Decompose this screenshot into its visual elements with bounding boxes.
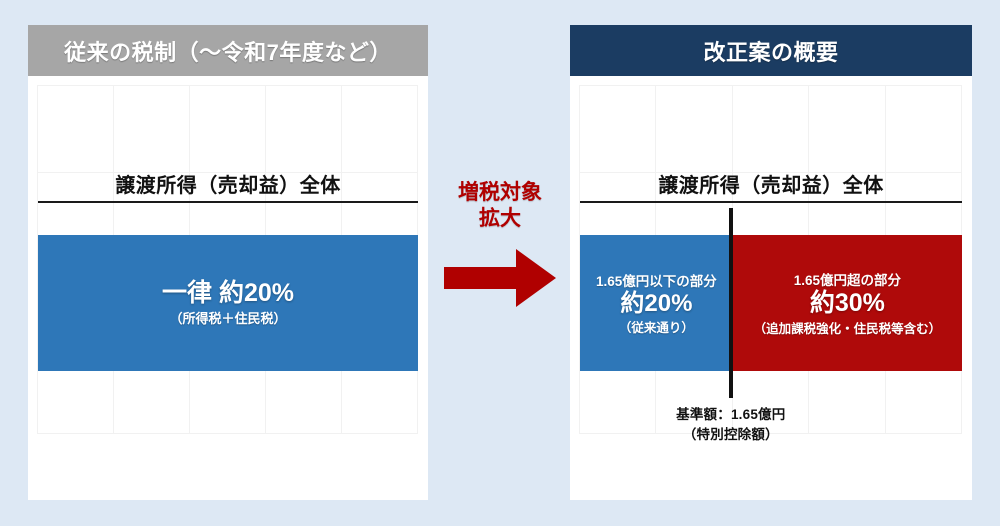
segment-detail-label: （従来通り） xyxy=(619,317,694,336)
threshold-annotation: 基準額：1.65億円 （特別控除額） xyxy=(676,403,785,443)
segment-detail-label: （所得税＋住民税） xyxy=(169,308,286,327)
transition-caption-line2: 拡大 xyxy=(458,206,542,232)
segment-rate-label: 一律 約20% xyxy=(162,279,294,308)
tax-bar-current: 一律 約20% （所得税＋住民税） xyxy=(38,235,418,371)
panel-reform-proposal: 改正案の概要 譲渡所得（売却益）全体 1.65億円以下の部分 約20% （従来通… xyxy=(570,25,972,500)
transition-caption-line1: 増税対象 xyxy=(458,180,542,206)
panel-current-header-label: 従来の税制（〜令和7年度など） xyxy=(64,35,392,67)
transition-arrow-block: 増税対象 拡大 xyxy=(430,180,570,310)
bar-segment-above-threshold-30: 1.65億円超の部分 約30% （追加課税強化・住民税等含む） xyxy=(733,235,962,371)
tax-bar-reform: 1.65億円以下の部分 約20% （従来通り） 1.65億円超の部分 約30% … xyxy=(580,235,962,371)
transition-caption: 増税対象 拡大 xyxy=(458,180,542,233)
panel-reform-header-label: 改正案の概要 xyxy=(703,35,838,67)
threshold-annotation-line1: 基準額：1.65億円 xyxy=(676,403,785,423)
panel-reform-header: 改正案の概要 xyxy=(570,25,972,76)
bar-segment-below-threshold-20: 1.65億円以下の部分 約20% （従来通り） xyxy=(580,235,733,371)
chart-title-left: 譲渡所得（売却益）全体 xyxy=(28,169,428,198)
segment-range-label: 1.65億円以下の部分 xyxy=(596,270,717,290)
chart-baseline-right xyxy=(580,201,962,203)
diagram-canvas: 従来の税制（〜令和7年度など） 譲渡所得（売却益）全体 一律 約20% （所得税… xyxy=(0,0,1000,526)
chart-baseline-left xyxy=(38,201,418,203)
segment-rate-label: 約30% xyxy=(810,289,885,318)
panel-current-body: 譲渡所得（売却益）全体 一律 約20% （所得税＋住民税） xyxy=(28,76,428,500)
segment-detail-label: （追加課税強化・住民税等含む） xyxy=(754,318,942,337)
panel-reform-body: 譲渡所得（売却益）全体 1.65億円以下の部分 約20% （従来通り） 1.65… xyxy=(570,76,972,500)
panel-current-tax-system: 従来の税制（〜令和7年度など） 譲渡所得（売却益）全体 一律 約20% （所得税… xyxy=(28,25,428,500)
panel-current-header: 従来の税制（〜令和7年度など） xyxy=(28,25,428,76)
bar-segment-uniform-20: 一律 約20% （所得税＋住民税） xyxy=(38,235,418,371)
chart-title-right: 譲渡所得（売却益）全体 xyxy=(570,169,972,198)
threshold-annotation-line2: （特別控除額） xyxy=(676,423,785,443)
threshold-divider-line xyxy=(729,208,733,398)
segment-range-label: 1.65億円超の部分 xyxy=(794,269,901,289)
arrow-right-icon xyxy=(444,247,556,314)
segment-rate-label: 約20% xyxy=(620,290,692,318)
